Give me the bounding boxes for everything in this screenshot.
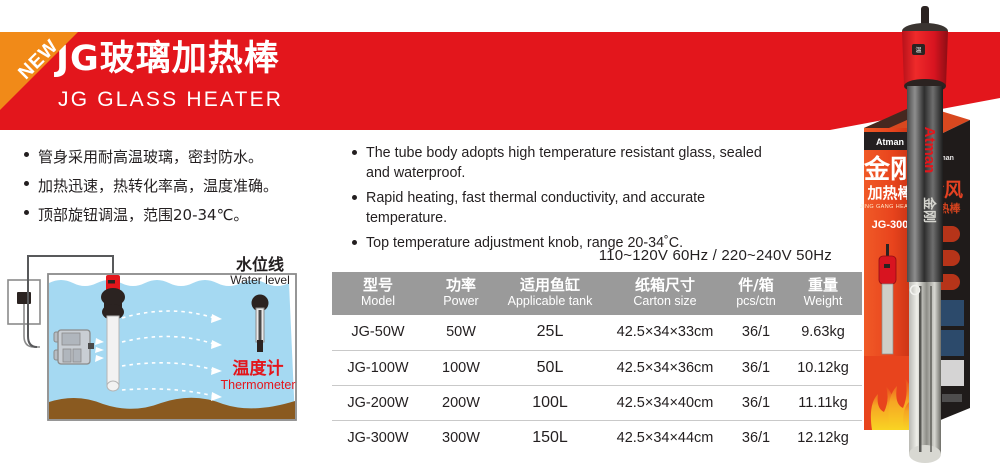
table-row: JG-300W 300W 150L 42.5×34×44cm 36/1 12.1…: [332, 420, 862, 455]
voltage-note: 110~120V 60Hz / 220~240V 50Hz: [599, 247, 832, 264]
cell-pcs: 36/1: [728, 385, 784, 420]
cell-pcs: 36/1: [728, 350, 784, 385]
feature-list-cn: 管身采用耐高温玻璃，密封防水。 加热迅速，热转化率高，温度准确。 顶部旋钮调温，…: [22, 144, 352, 231]
heater-brand-label: Atman: [921, 127, 938, 174]
thermometer-label-cn: 温度计: [233, 358, 284, 379]
column-header-model-en: Model: [332, 294, 424, 309]
feature-item-cn: 加热迅速，热转化率高，温度准确。: [22, 173, 352, 199]
thermometer-label-en: Thermometer: [220, 378, 295, 392]
heater-glass-tube: [909, 282, 941, 454]
spec-table: 型号 Model 功率 Power 适用鱼缸 Applicable tank 纸…: [332, 272, 862, 455]
svg-text:温: 温: [915, 46, 921, 54]
cell-tank: 50L: [498, 350, 602, 385]
column-header-pcs: 件/箱 pcs/ctn: [728, 272, 784, 315]
feature-list-en: The tube body adopts high temperature re…: [350, 143, 770, 258]
page-title-en: JG GLASS HEATER: [58, 88, 283, 112]
cell-power: 100W: [424, 350, 498, 385]
cell-power: 200W: [424, 385, 498, 420]
feature-item-cn: 管身采用耐高温玻璃，密封防水。: [22, 144, 352, 170]
table-row: JG-200W 200W 100L 42.5×34×40cm 36/1 11.1…: [332, 385, 862, 420]
water-level-label-cn: 水位线: [236, 255, 284, 274]
svg-text:金刚: 金刚: [921, 196, 937, 223]
feature-item-cn: 顶部旋钮调温，范围20-34℃。: [22, 202, 352, 228]
cell-carton: 42.5×34×40cm: [602, 385, 728, 420]
column-header-power: 功率 Power: [424, 272, 498, 315]
column-header-tank-en: Applicable tank: [498, 294, 602, 309]
package-model-code: JG-300: [872, 219, 909, 231]
cell-tank: 100L: [498, 385, 602, 420]
table-row: JG-50W 50W 25L 42.5×34×33cm 36/1 9.63kg: [332, 315, 862, 350]
page-title-cn: JG玻璃加热棒: [56, 42, 280, 77]
heater-body: [907, 86, 943, 282]
column-header-tank: 适用鱼缸 Applicable tank: [498, 272, 602, 315]
cell-model: JG-50W: [332, 315, 424, 350]
column-header-power-cn: 功率: [424, 276, 498, 294]
column-header-model: 型号 Model: [332, 272, 424, 315]
cell-carton: 42.5×34×44cm: [602, 420, 728, 455]
water-level-label-en: Water level: [230, 273, 290, 287]
column-header-carton: 纸箱尺寸 Carton size: [602, 272, 728, 315]
cell-power: 50W: [424, 315, 498, 350]
cell-model: JG-100W: [332, 350, 424, 385]
product-spec-sheet: NEW JG玻璃加热棒 JG GLASS HEATER 管身采用耐高温玻璃，密封…: [0, 0, 1000, 468]
feature-item-en: Rapid heating, fast thermal conductivity…: [350, 188, 770, 228]
column-header-carton-en: Carton size: [602, 294, 728, 309]
filter-pump-icon: [54, 330, 94, 364]
cell-pcs: 36/1: [728, 315, 784, 350]
table-row: JG-100W 100W 50L 42.5×34×36cm 36/1 10.12…: [332, 350, 862, 385]
column-header-tank-cn: 适用鱼缸: [498, 276, 602, 294]
feature-item-en: The tube body adopts high temperature re…: [350, 143, 770, 183]
power-outlet-icon: [8, 280, 40, 347]
cell-model: JG-300W: [332, 420, 424, 455]
table-header-row: 型号 Model 功率 Power 适用鱼缸 Applicable tank 纸…: [332, 272, 862, 315]
package-product-type-cn: 加热棒: [866, 184, 913, 202]
cell-pcs: 36/1: [728, 420, 784, 455]
cell-power: 300W: [424, 420, 498, 455]
pump-outflow-arrows: [95, 338, 104, 362]
cell-carton: 42.5×34×36cm: [602, 350, 728, 385]
column-header-pcs-cn: 件/箱: [728, 276, 784, 294]
cell-tank: 25L: [498, 315, 602, 350]
package-brand-label: Atman: [876, 137, 904, 147]
cell-tank: 150L: [498, 420, 602, 455]
column-header-model-cn: 型号: [332, 276, 424, 294]
cell-model: JG-200W: [332, 385, 424, 420]
package-photo: Atman 金刚 加热棒 JING GANG HEATER JG-300: [846, 0, 1000, 468]
column-header-power-en: Power: [424, 294, 498, 309]
column-header-pcs-en: pcs/ctn: [728, 294, 784, 309]
aquarium-illustration: 水位线 Water level 温度计 Thermometer: [0, 250, 330, 450]
column-header-carton-cn: 纸箱尺寸: [602, 276, 728, 294]
cell-carton: 42.5×34×33cm: [602, 315, 728, 350]
